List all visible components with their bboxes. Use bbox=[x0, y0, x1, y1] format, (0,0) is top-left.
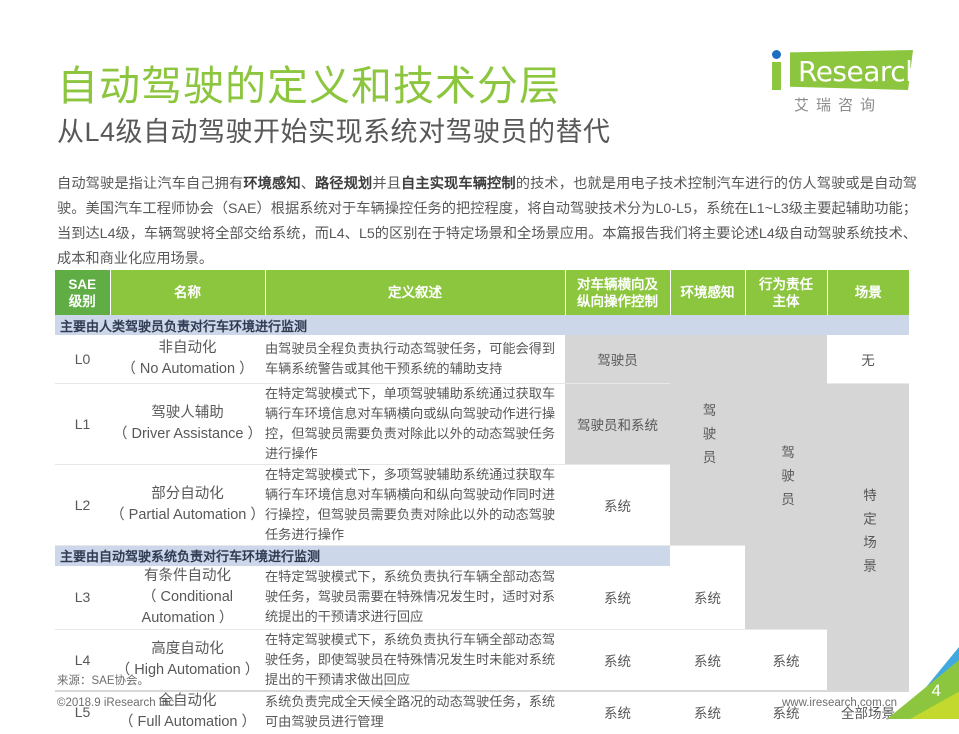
col-header-name: 名称 bbox=[110, 270, 265, 315]
intro-part-3: 并且 bbox=[372, 176, 401, 192]
cell-scenario: 无 bbox=[827, 335, 909, 383]
cell-perception-vertical: 驾驶员 bbox=[698, 403, 718, 474]
cell-responsibility-vertical: 驾驶员 bbox=[776, 445, 796, 516]
section-spacer-1c bbox=[827, 315, 909, 335]
table-header-row: SAE 级别 名称 定义叙述 对车辆横向及 纵向操作控制 环境感知 行为责任 主… bbox=[55, 270, 909, 315]
cell-name-cn: 非自动化 bbox=[110, 338, 265, 359]
cell-definition: 在特定驾驶模式下，单项驾驶辅助系统通过获取车辆行车环境信息对车辆横向或纵向驾驶动… bbox=[265, 383, 565, 464]
copyright-text: ©2018.9 iResearch Inc. bbox=[57, 697, 177, 709]
cell-name-en: （ Full Automation ） bbox=[110, 712, 265, 733]
cell-perception-merged: 驾驶员 bbox=[670, 335, 745, 545]
col-header-sae-line1: SAE bbox=[55, 276, 110, 293]
col-header-responsibility-line1: 行为责任 bbox=[746, 276, 827, 293]
section-header-row-1: 主要由人类驾驶员负责对行车环境进行监测 bbox=[55, 315, 909, 335]
website-url[interactable]: www.iresearch.com.cn bbox=[782, 697, 897, 709]
cell-responsibility: 系统 bbox=[745, 629, 827, 690]
source-note: 来源：SAE协会。 bbox=[57, 672, 149, 688]
col-header-control-line1: 对车辆横向及 bbox=[566, 276, 670, 293]
cell-control: 系统 bbox=[565, 464, 670, 545]
cell-control: 系统 bbox=[565, 690, 670, 734]
cell-name: 驾驶人辅助 （ Driver Assistance ） bbox=[110, 383, 265, 464]
cell-name-en: （ Driver Assistance ） bbox=[110, 424, 265, 445]
cell-definition: 在特定驾驶模式下，多项驾驶辅助系统通过获取车辆行车环境信息对车辆横向和纵向驾驶动… bbox=[265, 464, 565, 545]
cell-name-en: （ Partial Automation ） bbox=[110, 505, 265, 526]
cell-name-en: （ No Automation ） bbox=[110, 359, 265, 380]
cell-definition: 系统负责完成全天候全路况的动态驾驶任务，系统可由驾驶员进行管理 bbox=[265, 690, 565, 734]
cell-scenario-merged: 特定场景 bbox=[827, 383, 909, 690]
intro-part-2: 、 bbox=[301, 176, 315, 192]
logo-chinese-name: 艾瑞咨询 bbox=[794, 94, 914, 115]
col-header-sae-line2: 级别 bbox=[55, 293, 110, 310]
logo-mark: Research bbox=[768, 48, 913, 92]
col-header-sae-level: SAE 级别 bbox=[55, 270, 110, 315]
table-row: L5 全自动化 （ Full Automation ） 系统负责完成全天候全路况… bbox=[55, 690, 909, 734]
col-header-definition: 定义叙述 bbox=[265, 270, 565, 315]
col-header-perception: 环境感知 bbox=[670, 270, 745, 315]
table-row: L4 高度自动化 （ High Automation ） 在特定驾驶模式下，系统… bbox=[55, 629, 909, 690]
cell-level: L3 bbox=[55, 566, 110, 630]
cell-name: 非自动化 （ No Automation ） bbox=[110, 335, 265, 383]
cell-name: 部分自动化 （ Partial Automation ） bbox=[110, 464, 265, 545]
logo-wordmark: Research bbox=[798, 55, 922, 88]
corner-decoration: 4 bbox=[887, 647, 959, 719]
page-number: 4 bbox=[932, 681, 941, 701]
cell-control: 系统 bbox=[565, 566, 670, 630]
cell-perception: 系统 bbox=[670, 566, 745, 630]
iresearch-logo: Research 艾瑞咨询 bbox=[768, 48, 913, 118]
cell-name-cn: 有条件自动化 bbox=[110, 566, 265, 587]
cell-control: 驾驶员和系统 bbox=[565, 383, 670, 464]
cell-name-en: （ Conditional Automation ） bbox=[110, 587, 265, 629]
section-spacer-1b bbox=[745, 315, 827, 335]
intro-bold-1: 环境感知 bbox=[243, 176, 300, 192]
section-header-label-2: 主要由自动驾驶系统负责对行车环境进行监测 bbox=[55, 545, 670, 566]
cell-level: L2 bbox=[55, 464, 110, 545]
col-header-control-line2: 纵向操作控制 bbox=[566, 293, 670, 310]
col-header-responsibility-line2: 主体 bbox=[746, 293, 827, 310]
cell-level: L1 bbox=[55, 383, 110, 464]
cell-name-cn: 高度自动化 bbox=[110, 639, 265, 660]
cell-perception: 系统 bbox=[670, 690, 745, 734]
cell-name-cn: 驾驶人辅助 bbox=[110, 403, 265, 424]
logo-i-stem-icon bbox=[772, 62, 781, 90]
cell-definition: 在特定驾驶模式下，系统负责执行车辆全部动态驾驶任务，驾驶员需要在特殊情况发生时，… bbox=[265, 566, 565, 630]
cell-name: 有条件自动化 （ Conditional Automation ） bbox=[110, 566, 265, 630]
logo-i-dot-icon bbox=[772, 50, 781, 59]
sae-levels-table: SAE 级别 名称 定义叙述 对车辆横向及 纵向操作控制 环境感知 行为责任 主… bbox=[55, 270, 909, 734]
cell-control: 系统 bbox=[565, 629, 670, 690]
cell-definition: 在特定驾驶模式下，系统负责执行车辆全部动态驾驶任务，即使驾驶员在特殊情况发生时未… bbox=[265, 629, 565, 690]
cell-responsibility-merged: 驾驶员 bbox=[745, 335, 827, 629]
page-subtitle: 从L4级自动驾驶开始实现系统对驾驶员的替代 bbox=[57, 110, 611, 149]
cell-scenario-vertical: 特定场景 bbox=[858, 488, 878, 582]
col-header-control: 对车辆横向及 纵向操作控制 bbox=[565, 270, 670, 315]
section-spacer-1a bbox=[670, 315, 745, 335]
col-header-responsibility: 行为责任 主体 bbox=[745, 270, 827, 315]
intro-part-1: 自动驾驶是指让汽车自己拥有 bbox=[57, 176, 243, 192]
intro-paragraph: 自动驾驶是指让汽车自己拥有环境感知、路径规划并且自主实现车辆控制的技术，也就是用… bbox=[57, 172, 917, 272]
cell-control: 驾驶员 bbox=[565, 335, 670, 383]
footer-divider bbox=[55, 690, 909, 692]
cell-definition: 由驾驶员全程负责执行动态驾驶任务，可能会得到车辆系统警告或其他干预系统的辅助支持 bbox=[265, 335, 565, 383]
col-header-scenario: 场景 bbox=[827, 270, 909, 315]
cell-name-cn: 部分自动化 bbox=[110, 484, 265, 505]
section-header-label-1: 主要由人类驾驶员负责对行车环境进行监测 bbox=[55, 315, 670, 335]
cell-perception: 系统 bbox=[670, 629, 745, 690]
intro-bold-3: 自主实现车辆控制 bbox=[401, 176, 516, 192]
cell-level: L0 bbox=[55, 335, 110, 383]
table-row: L0 非自动化 （ No Automation ） 由驾驶员全程负责执行动态驾驶… bbox=[55, 335, 909, 383]
slide: Research 艾瑞咨询 自动驾驶的定义和技术分层 从L4级自动驾驶开始实现系… bbox=[0, 0, 959, 719]
intro-bold-2: 路径规划 bbox=[315, 176, 372, 192]
page-title: 自动驾驶的定义和技术分层 bbox=[57, 52, 561, 112]
